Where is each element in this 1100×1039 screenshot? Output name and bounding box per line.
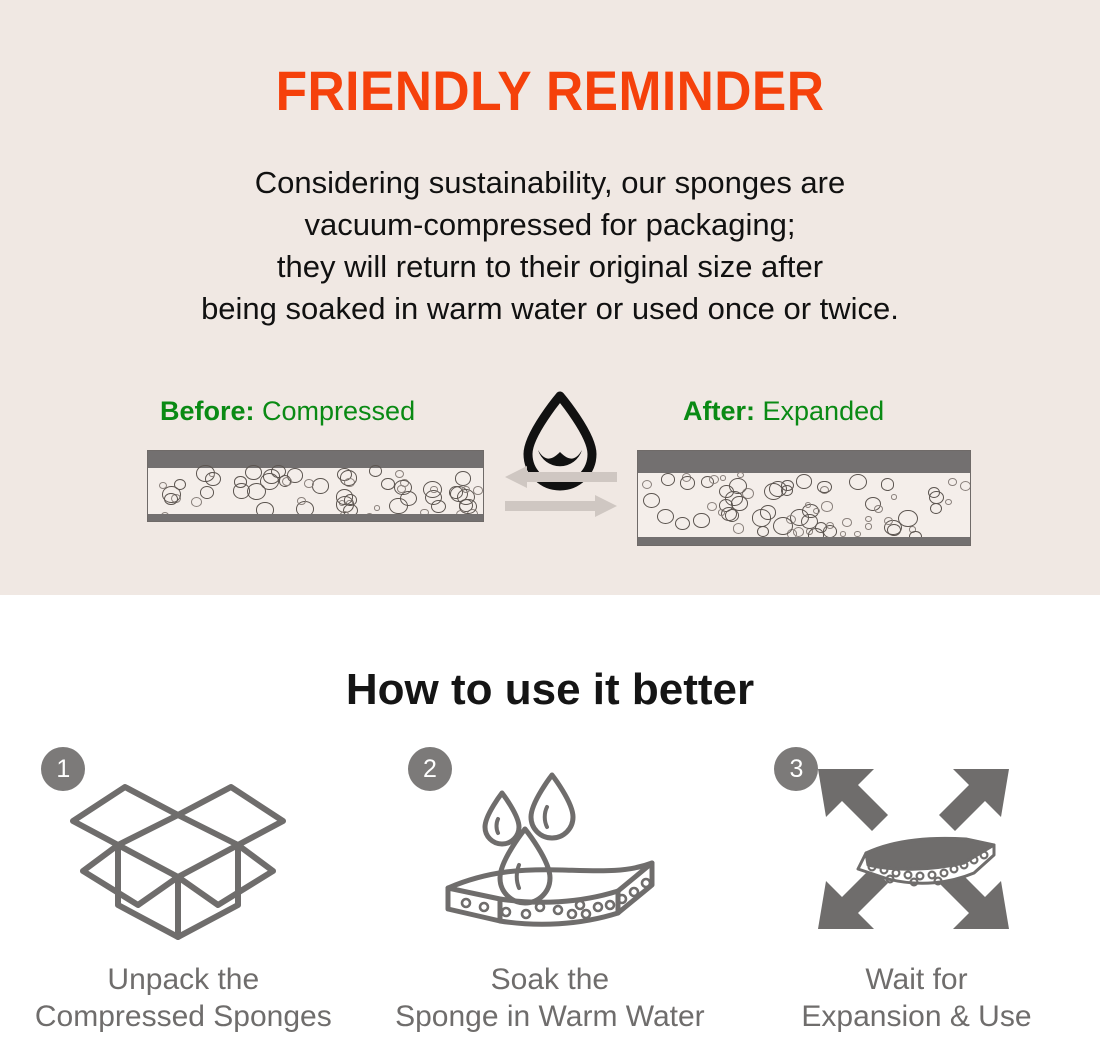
sponge-pore — [312, 478, 329, 494]
intro-paragraph: Considering sustainability, our sponges … — [0, 162, 1100, 330]
sponge-pore — [887, 524, 901, 536]
sponge-pore — [657, 509, 674, 524]
sponge-pore — [344, 494, 357, 506]
sponge-base-layer — [148, 514, 483, 521]
sponge-pore — [643, 493, 661, 509]
sponge-pore — [737, 472, 744, 479]
sponge-pore — [680, 476, 696, 490]
expanded-sponge-illustration — [637, 450, 971, 546]
after-label-strong: After: — [683, 396, 755, 426]
step-1-art: 1 — [33, 745, 333, 945]
sponge-pore — [164, 493, 178, 505]
drop-and-arrows-svg — [505, 390, 625, 520]
step-1-caption-line1: Unpack the — [35, 961, 332, 998]
sponge-pore — [773, 517, 793, 535]
sponge-pore — [757, 526, 769, 537]
intro-line-3: they will return to their original size … — [0, 246, 1100, 288]
compressed-sponge-illustration — [147, 450, 484, 522]
sponge-pore — [423, 481, 442, 498]
sponge-pore — [865, 516, 872, 522]
arrow-right-icon — [505, 495, 617, 517]
step-2-caption-line2: Sponge in Warm Water — [395, 998, 705, 1035]
sponge-pore — [874, 505, 883, 513]
sponge-pores-before — [148, 451, 483, 521]
sponge-pore — [473, 486, 483, 495]
before-label-value: Compressed — [262, 396, 415, 426]
step-1-caption: Unpack the Compressed Sponges — [35, 961, 332, 1035]
step-2-caption-line1: Soak the — [395, 961, 705, 998]
step-3: 3 — [733, 745, 1100, 1035]
sponge-pore — [865, 523, 872, 529]
sponge-pore — [381, 478, 394, 490]
transformation-indicator — [505, 390, 625, 520]
steps-row: 1 — [0, 745, 1100, 1035]
sponge-pore — [817, 481, 831, 494]
sponge-pore — [395, 470, 404, 478]
sponge-pore — [369, 465, 382, 477]
sponge-pores-after — [638, 451, 970, 545]
intro-line-2: vacuum-compressed for packaging; — [0, 204, 1100, 246]
sponge-pore — [898, 510, 917, 527]
sponge-pore — [271, 465, 286, 478]
step-3-caption-line2: Expansion & Use — [801, 998, 1031, 1035]
sponge-pore — [394, 480, 412, 496]
sponge-pore — [805, 502, 811, 508]
step-2-art: 2 — [400, 745, 700, 945]
sponge-pore — [675, 517, 690, 530]
sponge-pore — [930, 503, 942, 514]
step-3-caption: Wait for Expansion & Use — [801, 961, 1031, 1035]
sponge-pore — [205, 472, 222, 487]
sponge-pore — [945, 499, 952, 505]
step-1: 1 — [0, 745, 367, 1035]
water-drops-on-sponge-icon — [430, 757, 670, 942]
sponge-pore — [842, 518, 851, 527]
sponge-pore — [720, 475, 726, 481]
sponge-pore — [431, 500, 446, 513]
sponge-pore — [733, 523, 745, 533]
sponge-pore — [191, 497, 202, 507]
sponge-base-layer — [638, 537, 970, 545]
sponge-pore — [245, 465, 262, 480]
section-title: How to use it better — [0, 665, 1100, 715]
before-label-strong: Before: — [160, 396, 255, 426]
sponge-pore — [340, 470, 357, 485]
sponge-pore — [793, 527, 805, 538]
sponge-pore — [821, 501, 832, 511]
sponge-pore — [801, 514, 818, 529]
sponge-pore — [304, 479, 313, 488]
sponge-pore — [960, 481, 971, 491]
how-to-use-panel: How to use it better 1 — [0, 595, 1100, 1039]
sponge-pore — [374, 505, 380, 511]
after-label: After: Expanded — [683, 396, 884, 427]
intro-line-1: Considering sustainability, our sponges … — [0, 162, 1100, 204]
sponge-pore — [948, 478, 956, 486]
sponge-pore — [693, 513, 709, 528]
sponge-pore — [455, 471, 472, 486]
after-label-value: Expanded — [763, 396, 885, 426]
sponge-pore — [813, 508, 820, 514]
sponge-pore — [282, 477, 292, 486]
sponge-pore — [760, 505, 776, 520]
before-label: Before: Compressed — [160, 396, 415, 427]
sponge-pore — [297, 497, 306, 505]
expanded-sponge-shape — [858, 838, 994, 883]
sponge-pore — [389, 498, 408, 515]
sponge-pore — [233, 483, 250, 499]
sponge-pore — [796, 474, 812, 489]
open-box-icon — [63, 757, 293, 942]
step-2-caption: Soak the Sponge in Warm Water — [395, 961, 705, 1035]
sponge-pore — [849, 474, 868, 491]
sponge-pore — [725, 509, 739, 522]
step-2: 2 — [367, 745, 734, 1035]
sponge-pore — [661, 473, 675, 486]
step-1-caption-line2: Compressed Sponges — [35, 998, 332, 1035]
step-3-art: 3 — [766, 745, 1066, 945]
sponge-pore — [709, 475, 720, 485]
sponge-pore — [200, 486, 214, 499]
friendly-reminder-panel: FRIENDLY REMINDER Considering sustainabi… — [0, 0, 1100, 595]
sponge-pore — [891, 494, 897, 500]
page-title: FRIENDLY REMINDER — [44, 58, 1056, 123]
intro-line-4: being soaked in warm water or used once … — [0, 288, 1100, 330]
expand-arrows-sponge-icon — [796, 757, 1031, 942]
sponge-pore — [707, 502, 717, 511]
sponge-pore — [881, 478, 895, 490]
sponge-pore — [718, 509, 725, 516]
sponge-pore — [462, 486, 470, 493]
sponge-pore — [642, 480, 653, 489]
step-3-caption-line1: Wait for — [801, 961, 1031, 998]
